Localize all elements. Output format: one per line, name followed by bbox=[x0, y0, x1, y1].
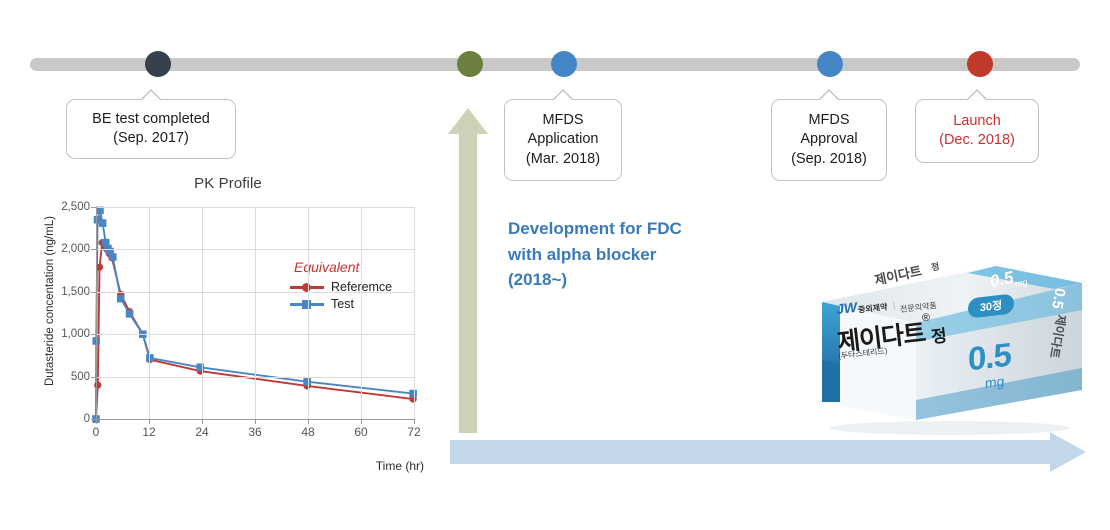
chart-legend: Equivalent Referemce Test bbox=[290, 259, 392, 311]
callout-launch[interactable]: Launch (Dec. 2018) bbox=[915, 99, 1039, 163]
fdc-development-note: Development for FDC with alpha blocker (… bbox=[508, 216, 682, 293]
chart-x-tick-label: 60 bbox=[354, 425, 367, 439]
chart-x-tick-label: 48 bbox=[301, 425, 314, 439]
chart-gridline-vertical bbox=[149, 207, 150, 419]
chart-y-tick-label: 2,500 bbox=[61, 201, 90, 213]
timeline-dot-fdc-start[interactable] bbox=[457, 51, 483, 77]
chart-y-tick-label: 0 bbox=[84, 413, 90, 425]
fdc-note-line: with alpha blocker bbox=[508, 242, 682, 268]
callout-line: (Mar. 2018) bbox=[526, 150, 600, 169]
chart-data-point-test bbox=[126, 310, 134, 318]
legend-item-test: Test bbox=[290, 297, 392, 311]
product-package-image: JW 중외제약 | 전문의약품 제이다트 ® 정 (두타스테리드) 30정 0.… bbox=[800, 250, 1095, 440]
chart-x-axis-label: Time (hr) bbox=[376, 459, 424, 473]
chart-x-tick-mark bbox=[255, 419, 256, 424]
fdc-note-line: (2018~) bbox=[508, 267, 682, 293]
callout-tail-fill-icon bbox=[967, 91, 987, 101]
chart-x-tick-mark bbox=[149, 419, 150, 424]
chart-plot-area: Equivalent Referemce Test 05001,0001,500… bbox=[96, 207, 414, 419]
chart-x-tick-mark bbox=[202, 419, 203, 424]
callout-tail-fill-icon bbox=[141, 91, 161, 101]
legend-label: Test bbox=[331, 297, 354, 311]
chart-y-tick-label: 2,000 bbox=[61, 243, 90, 255]
fdc-note-line: Development for FDC bbox=[508, 216, 682, 242]
callout-line: Launch bbox=[953, 112, 1001, 131]
chart-x-tick-mark bbox=[361, 419, 362, 424]
callout-line: Application bbox=[528, 130, 599, 149]
chart-gridline-vertical bbox=[361, 207, 362, 419]
chart-y-tick-label: 1,000 bbox=[61, 328, 90, 340]
legend-swatch-square-icon bbox=[290, 298, 324, 310]
chart-x-tick-label: 12 bbox=[142, 425, 155, 439]
callout-line: (Dec. 2018) bbox=[939, 131, 1015, 150]
callout-be-test[interactable]: BE test completed (Sep. 2017) bbox=[66, 99, 236, 159]
fdc-up-arrow-icon bbox=[448, 108, 488, 433]
chart-data-point-reference bbox=[96, 264, 103, 271]
chart-data-point-test bbox=[109, 253, 117, 261]
chart-x-tick-mark bbox=[96, 419, 97, 424]
callout-mfds-application[interactable]: MFDS Application (Mar. 2018) bbox=[504, 99, 622, 181]
callout-line: MFDS bbox=[808, 111, 849, 130]
product-brand-logo: JW bbox=[835, 299, 858, 317]
callout-line: (Sep. 2018) bbox=[791, 150, 867, 169]
callout-line: MFDS bbox=[542, 111, 583, 130]
chart-y-tick-label: 1,500 bbox=[61, 286, 90, 298]
product-count-badge-label: 30정 bbox=[980, 297, 1002, 316]
chart-axis-left bbox=[96, 207, 97, 419]
product-dosage-form: 정 bbox=[930, 321, 948, 348]
callout-mfds-approval[interactable]: MFDS Approval (Sep. 2018) bbox=[771, 99, 887, 181]
chart-y-axis-label: Dutasteride concentation (ng/mL) bbox=[44, 191, 56, 411]
chart-x-tick-mark bbox=[308, 419, 309, 424]
chart-x-tick-label: 24 bbox=[195, 425, 208, 439]
chart-x-tick-mark bbox=[414, 419, 415, 424]
chart-y-tick-label: 500 bbox=[71, 371, 90, 383]
chart-x-tick-label: 36 bbox=[248, 425, 261, 439]
callout-line: BE test completed bbox=[92, 110, 210, 129]
callout-tail-fill-icon bbox=[819, 91, 839, 101]
timeline-dot-mfds-application[interactable] bbox=[551, 51, 577, 77]
chart-title: PK Profile bbox=[28, 175, 428, 192]
chart-x-tick-label: 72 bbox=[407, 425, 420, 439]
timeline-dot-be-test[interactable] bbox=[145, 51, 171, 77]
product-strength-unit: mg bbox=[985, 373, 1004, 391]
chart-gridline-vertical bbox=[202, 207, 203, 419]
chart-data-point-test bbox=[117, 295, 125, 303]
chart-x-tick-label: 0 bbox=[93, 425, 100, 439]
callout-tail-fill-icon bbox=[553, 91, 573, 101]
chart-gridline-vertical bbox=[308, 207, 309, 419]
pk-profile-chart: PK Profile Dutasteride concentation (ng/… bbox=[28, 175, 428, 475]
chart-gridline-vertical bbox=[414, 207, 415, 419]
callout-line: Approval bbox=[800, 130, 857, 149]
callout-line: (Sep. 2017) bbox=[113, 129, 189, 148]
chart-gridline-vertical bbox=[255, 207, 256, 419]
product-side-strength: 0.5 bbox=[1048, 287, 1068, 310]
legend-title: Equivalent bbox=[290, 259, 392, 275]
chart-data-point-test bbox=[99, 219, 107, 227]
timeline-dot-launch[interactable] bbox=[967, 51, 993, 77]
timeline-dot-mfds-approval[interactable] bbox=[817, 51, 843, 77]
